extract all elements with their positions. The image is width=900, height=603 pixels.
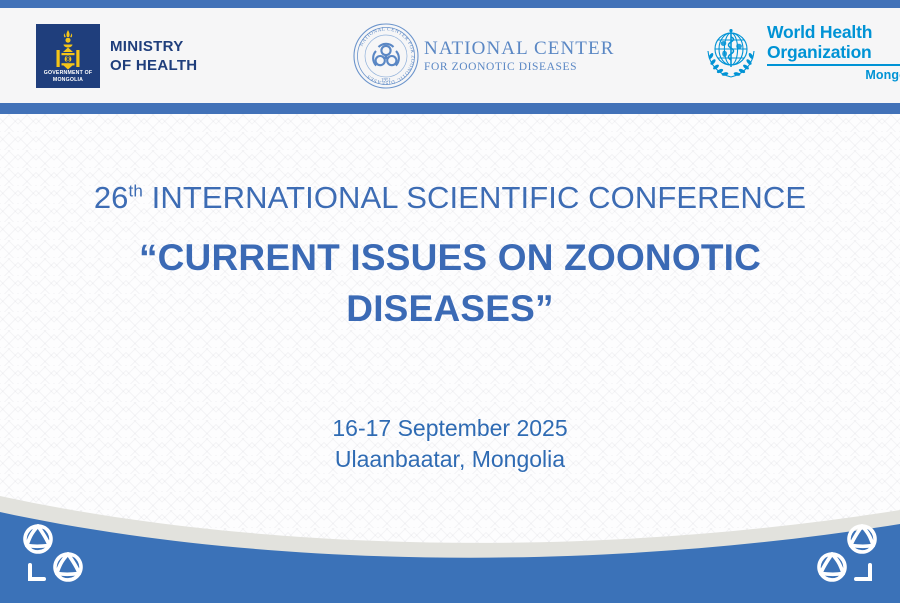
who-emblem-icon — [702, 24, 760, 80]
crest-caption-line2: MONGOLIA — [53, 77, 83, 83]
event-details: 16-17 September 2025 Ulaanbaatar, Mongol… — [0, 413, 900, 475]
ministry-of-health-logo: GOVERNMENT OF MONGOLIA MINISTRY OF HEALT… — [36, 24, 197, 88]
conference-title-rest: INTERNATIONAL SCIENTIFIC CONFERENCE — [143, 180, 806, 215]
who-country-label: Mongolia — [767, 68, 900, 82]
who-name: World Health Organization Mongolia — [767, 22, 900, 82]
ministry-of-health-name: MINISTRY OF HEALTH — [110, 37, 197, 75]
mongolia-soyombo-emblem-icon — [53, 29, 83, 73]
svg-text:1951: 1951 — [381, 79, 392, 84]
nczd-name-line2: FOR ZOONOTIC DISEASES — [424, 62, 614, 74]
theme-line-1: “CURRENT ISSUES ON ZOONOTIC — [0, 232, 900, 283]
national-center-name: NATIONAL CENTER FOR ZOONOTIC DISEASES — [424, 39, 614, 74]
who-underline-divider — [767, 64, 900, 66]
nczd-name-line1: NATIONAL CENTER — [424, 39, 614, 58]
who-name-line2: Organization — [767, 42, 900, 62]
mongolian-ulzii-knot-ornament-icon — [14, 519, 98, 589]
who-mongolia-logo: World Health Organization Mongolia — [702, 22, 900, 82]
mongolia-state-crest: GOVERNMENT OF MONGOLIA — [36, 24, 100, 88]
conference-theme-title: “CURRENT ISSUES ON ZOONOTIC DISEASES” — [0, 232, 900, 334]
event-date: 16-17 September 2025 — [0, 413, 900, 444]
crest-caption-line1: GOVERNMENT OF — [44, 70, 92, 76]
who-name-line1: World Health — [767, 22, 900, 42]
biohazard-seal-icon: NATIONAL CENTER FOR ZOONOTIC DISEASES 19… — [352, 22, 420, 90]
ministry-name-line2: OF HEALTH — [110, 57, 197, 74]
edition-number: 26 — [94, 180, 129, 215]
conference-edition-title: 26th INTERNATIONAL SCIENTIFIC CONFERENCE — [0, 178, 900, 218]
bottom-wave-decoration — [0, 468, 900, 603]
crest-caption: GOVERNMENT OF MONGOLIA — [36, 70, 100, 84]
conference-title-slide: GOVERNMENT OF MONGOLIA MINISTRY OF HEALT… — [0, 0, 900, 603]
mongolian-ulzii-knot-ornament-icon — [802, 519, 886, 589]
title-block: 26th INTERNATIONAL SCIENTIFIC CONFERENCE… — [0, 178, 900, 334]
national-center-zoonotic-diseases-logo: NATIONAL CENTER FOR ZOONOTIC DISEASES 19… — [352, 22, 614, 90]
ministry-name-line1: MINISTRY — [110, 38, 184, 55]
header-divider-bar — [0, 103, 900, 114]
theme-line-2: DISEASES” — [0, 283, 900, 334]
edition-ordinal-suffix: th — [129, 182, 143, 201]
top-accent-bar — [0, 0, 900, 8]
